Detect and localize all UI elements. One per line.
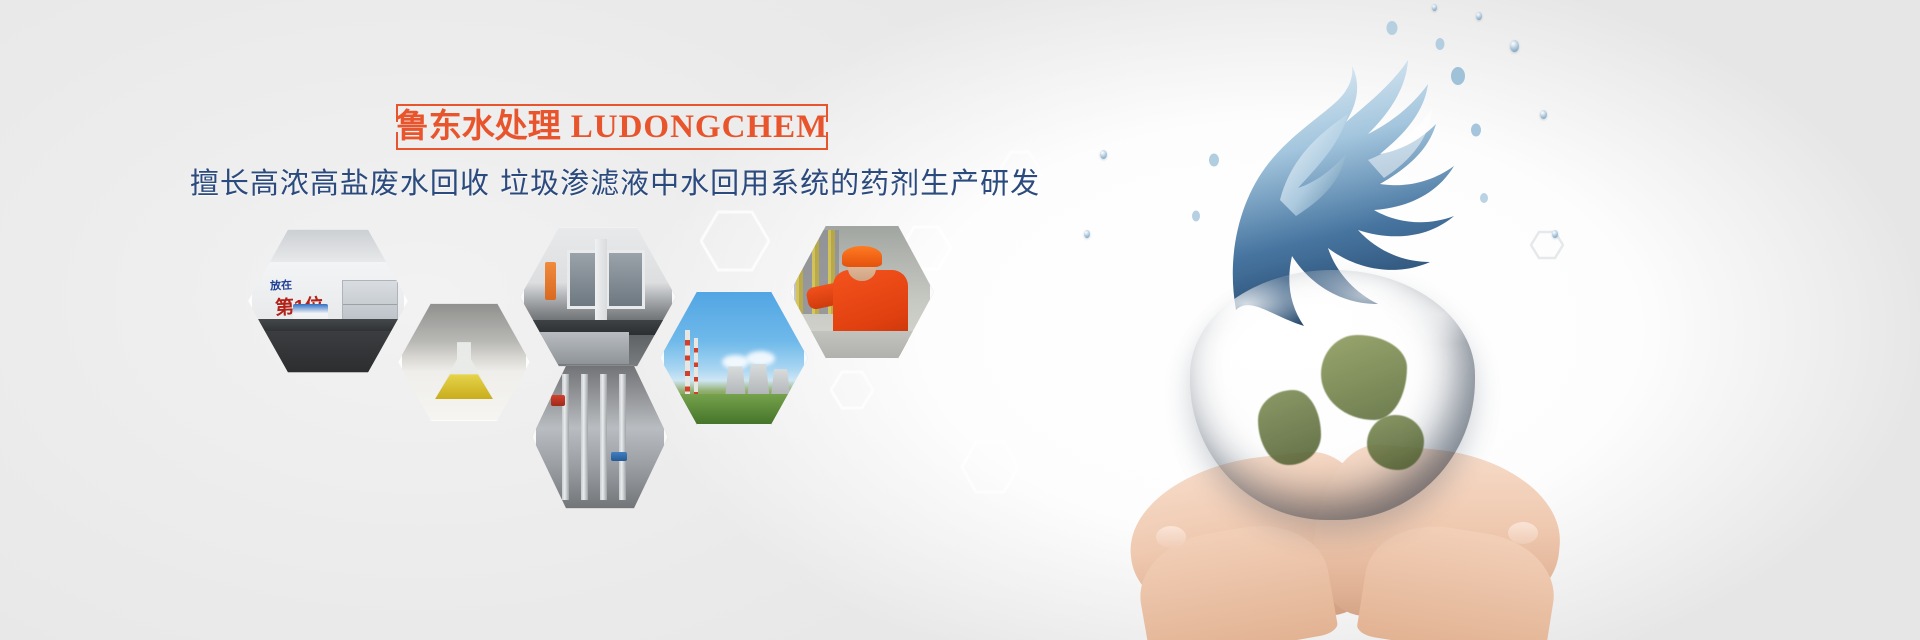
pipe-1 xyxy=(562,374,569,500)
smokestack-2 xyxy=(694,338,698,394)
hero-banner: 鲁东水处理 LUDONGCHEM 擅长高浓高盐废水回收 垃圾渗滤液中水回用系统的… xyxy=(0,0,1920,640)
lab-orange-stand xyxy=(545,262,556,300)
plant-floor xyxy=(790,331,934,362)
hex-image-worker xyxy=(790,222,934,362)
gallery-hex-worker[interactable] xyxy=(790,222,934,362)
hex-image-flask xyxy=(398,300,530,424)
globe-water-foam xyxy=(1190,270,1475,355)
water-droplet-5 xyxy=(1084,230,1090,238)
cooling-tower-2 xyxy=(747,364,769,398)
landmass-asia xyxy=(1367,415,1424,470)
lab-column xyxy=(595,239,607,330)
smokestack-1 xyxy=(685,330,690,394)
hex-image-power-plant xyxy=(660,288,808,428)
water-droplet-6 xyxy=(1552,230,1558,238)
wall-slogan-top: 放在 xyxy=(270,276,293,293)
water-droplet-7 xyxy=(1432,4,1437,11)
lab-floor xyxy=(248,331,408,376)
brand-title: 鲁东水处理 LUDONGCHEM xyxy=(396,104,828,150)
gallery-hex-chem-lab[interactable] xyxy=(520,224,676,370)
green-field xyxy=(660,394,808,428)
gallery-hex-flask[interactable] xyxy=(398,300,530,424)
fingernail-2 xyxy=(1508,522,1538,544)
water-globe-artwork xyxy=(1040,0,1600,640)
water-droplet-3 xyxy=(1476,12,1482,20)
cooling-tower-1 xyxy=(725,366,746,397)
brand-title-cn: 鲁东水处理 xyxy=(396,111,561,144)
hex-image-filter-skid xyxy=(532,362,668,512)
gallery-hex-lab-room[interactable]: 放在 第1位 xyxy=(248,226,408,376)
brand-title-en: LUDONGCHEM xyxy=(571,111,829,144)
lab-ceiling xyxy=(248,226,408,265)
red-valve xyxy=(551,395,565,406)
safety-helmet-icon xyxy=(842,246,882,267)
pipe-3 xyxy=(600,374,607,500)
hex-image-lab-room: 放在 第1位 xyxy=(248,226,408,376)
decorative-hexagon-outline-3 xyxy=(830,370,874,410)
pipe-4 xyxy=(619,374,626,500)
lab-cabinet-base xyxy=(532,332,629,364)
blue-valve xyxy=(611,452,627,461)
decorative-hexagon-outline-1 xyxy=(700,210,770,272)
hex-image-chem-lab xyxy=(520,224,676,370)
gallery-hex-power-plant[interactable] xyxy=(660,288,808,428)
water-droplet-2 xyxy=(1540,110,1547,119)
brand-title-block: 鲁东水处理 LUDONGCHEM xyxy=(396,104,828,150)
gallery-hex-filter-skid[interactable] xyxy=(532,362,668,512)
flask-liquid xyxy=(435,374,493,399)
pipe-2 xyxy=(581,374,588,500)
fingernail-1 xyxy=(1156,526,1186,548)
landmass-south-america xyxy=(1258,390,1321,465)
water-droplet-4 xyxy=(1100,150,1107,159)
water-droplet-1 xyxy=(1510,40,1519,52)
decorative-hexagon-outline-5 xyxy=(960,440,1020,494)
landmass-africa-europe xyxy=(1321,335,1407,420)
cooling-tower-3 xyxy=(771,369,790,397)
lab-bench xyxy=(248,319,408,331)
